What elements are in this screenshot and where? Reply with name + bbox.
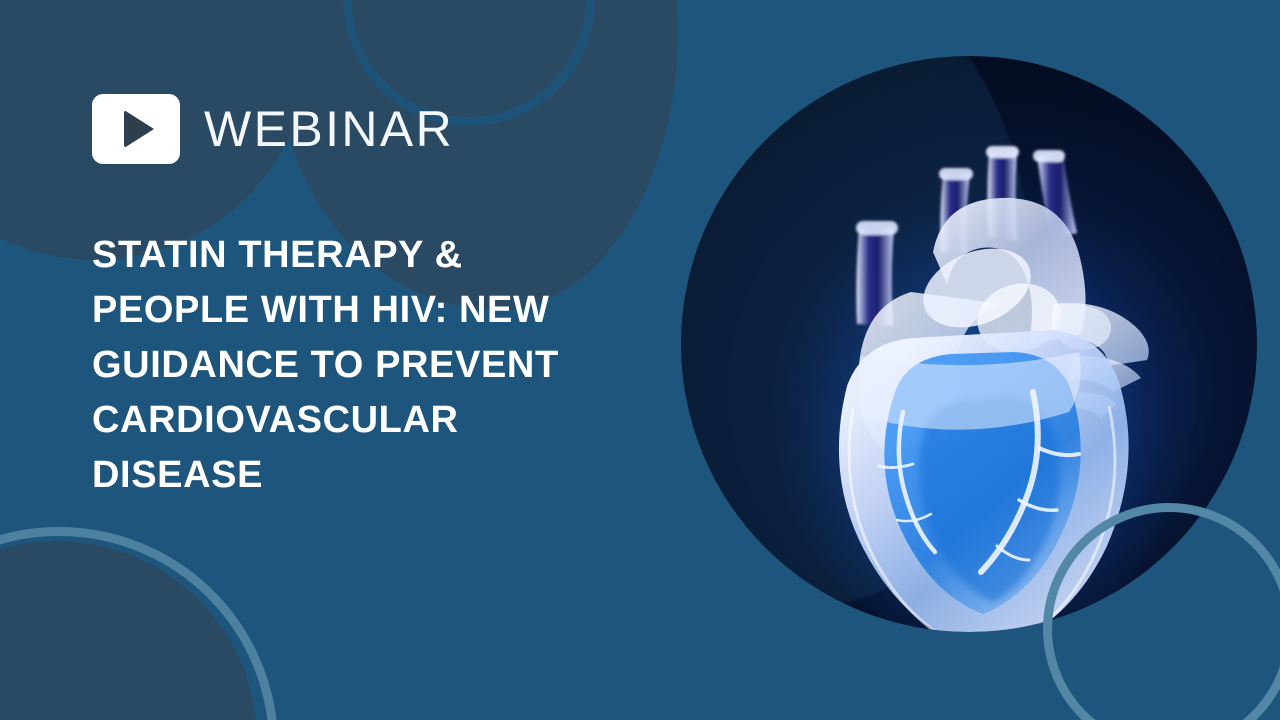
title-line-3: GUIDANCE TO PREVENT [92, 338, 672, 393]
title-line-2: PEOPLE WITH HIV: NEW [92, 283, 672, 338]
webinar-logo: WEBINAR [92, 94, 454, 164]
webinar-promo-slide: WEBINAR STATIN THERAPY & PEOPLE WITH HIV… [0, 0, 1280, 720]
webinar-label: WEBINAR [204, 104, 454, 154]
title-line-4: CARDIOVASCULAR [92, 393, 672, 448]
heart-illustration [681, 56, 1257, 632]
play-triangle-glyph [124, 110, 154, 148]
page-title: STATIN THERAPY & PEOPLE WITH HIV: NEW GU… [92, 228, 672, 503]
title-line-5: DISEASE [92, 448, 672, 503]
anatomical-heart-icon [681, 56, 1257, 632]
play-icon [92, 94, 180, 164]
ring-bottom-left [0, 527, 278, 720]
title-line-1: STATIN THERAPY & [92, 228, 672, 283]
circle-bottom-left [0, 541, 257, 720]
